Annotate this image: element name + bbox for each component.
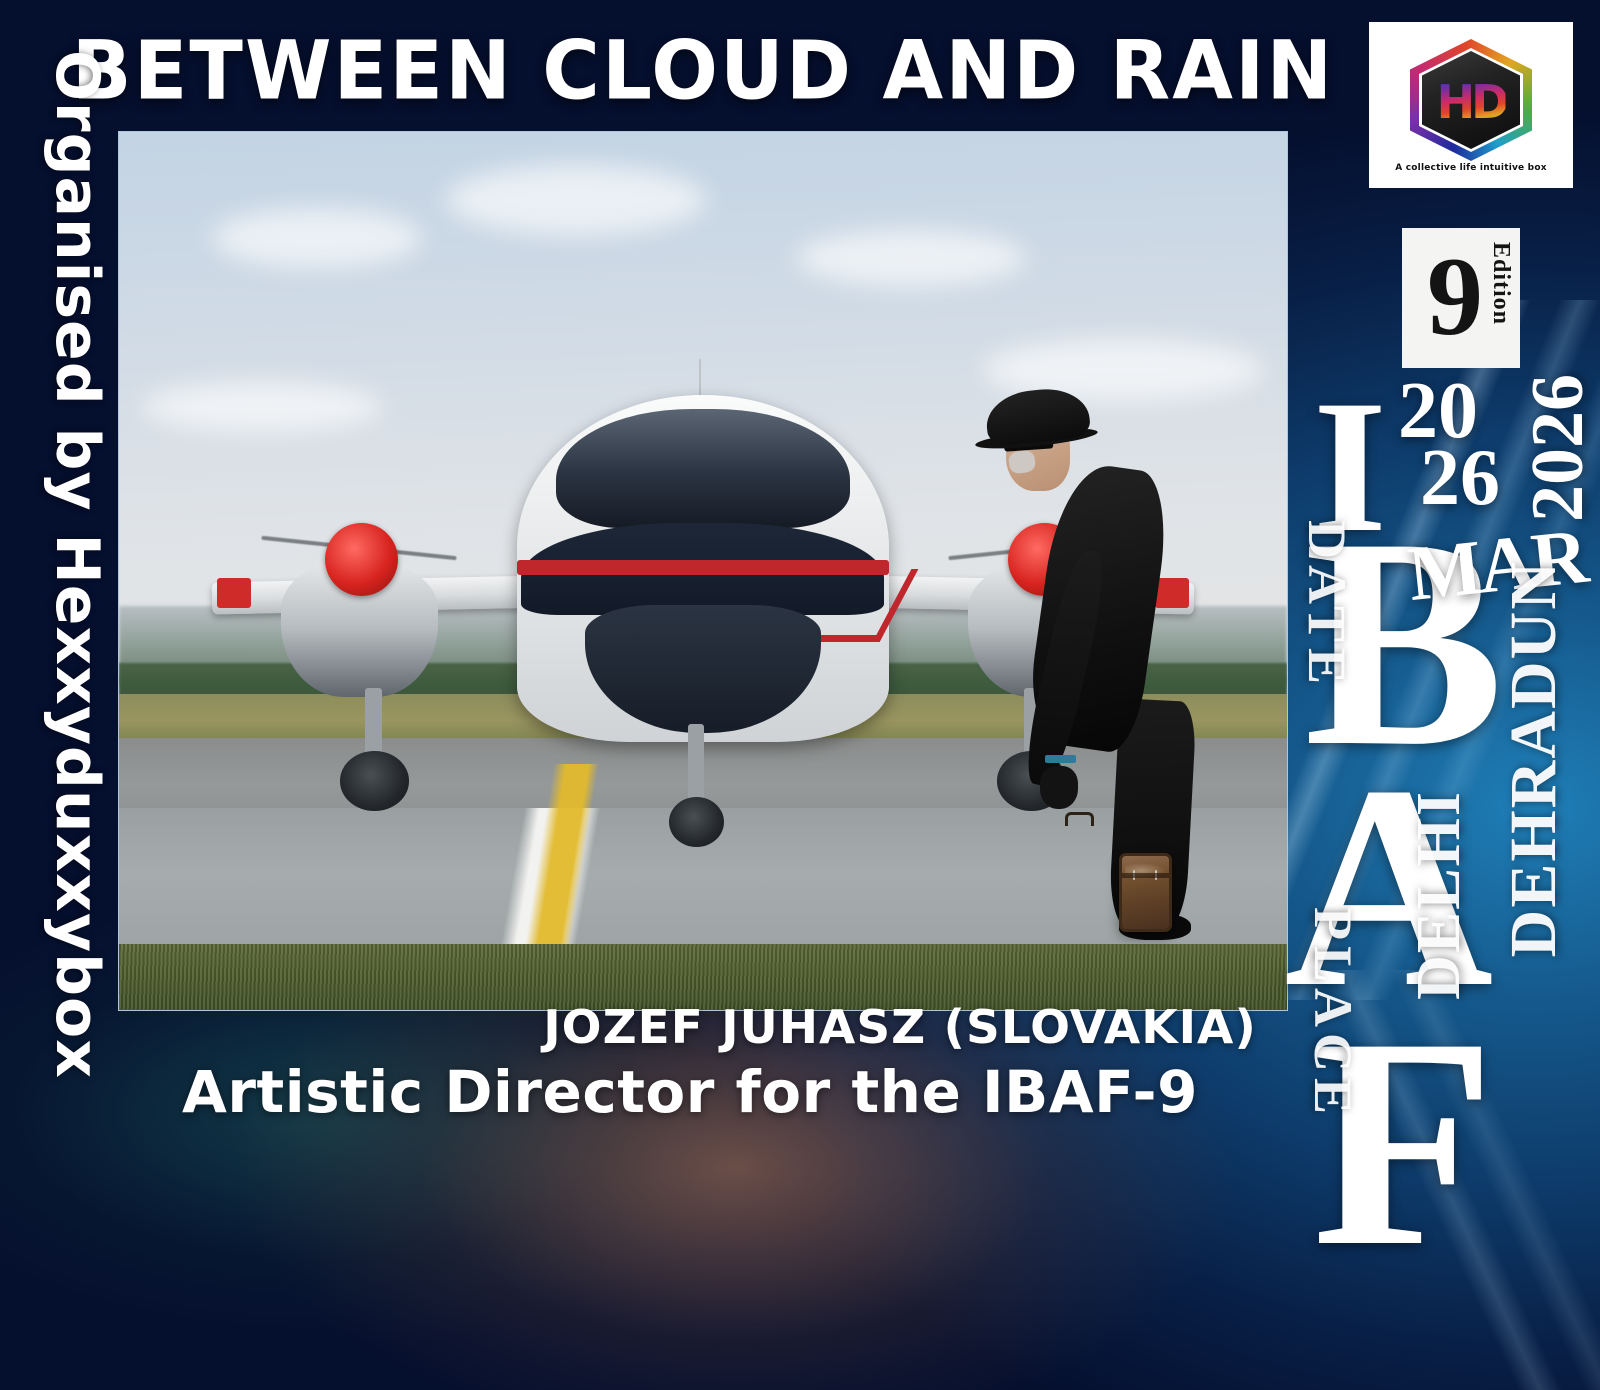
sleeve-cuff <box>1045 755 1076 764</box>
date-year-line-2: 26 <box>1420 445 1500 512</box>
date-year-stacked: 2026 <box>1398 378 1500 512</box>
suitcase-clasp <box>1155 870 1157 879</box>
cloud <box>796 230 1026 286</box>
propeller-spinner-left <box>325 523 398 596</box>
page-title: BETWEEN CLOUD AND RAIN <box>83 17 1323 125</box>
hero-photo <box>118 131 1288 1011</box>
artist-name: JOZEF JUHASZ (SLOVAKIA) <box>106 1000 1299 1054</box>
cockpit-canopy <box>556 409 850 528</box>
edition-badge: 9 Edition <box>1402 228 1520 368</box>
location-delhi: DELHI <box>1404 790 1475 1000</box>
hexxyduxxybox-logo: HD A collective life intuitive box <box>1369 22 1573 188</box>
man-with-suitcase <box>960 395 1217 939</box>
festival-dates: 2026 2026 MAR <box>1398 378 1558 568</box>
edition-label: Edition <box>1487 242 1514 325</box>
hd-monogram: HD <box>1437 75 1506 129</box>
sponsor-logo-row: KULT MINOR இ bindu space for artists MUL… <box>0 1176 1600 1376</box>
cloud <box>212 208 422 268</box>
suitcase-handle <box>1065 812 1093 826</box>
cloud <box>446 165 706 235</box>
glove <box>1040 766 1079 810</box>
artist-role: Artistic Director for the IBAF-9 <box>100 1058 1280 1126</box>
vintage-suitcase <box>1119 853 1172 932</box>
date-year-vertical: 2026 <box>1516 374 1600 522</box>
nose-wheel <box>669 797 724 847</box>
nose-gear-strut <box>688 724 704 806</box>
wingtip-left <box>217 578 250 608</box>
suitcase-clasp <box>1133 870 1135 879</box>
date-label: DATE <box>1296 520 1358 690</box>
logo-tagline: A collective life intuitive box <box>1395 163 1546 173</box>
main-wheel-left <box>340 751 409 810</box>
edition-number: 9 <box>1427 252 1483 344</box>
place-label: PLACE <box>1302 907 1364 1120</box>
poster-root: BETWEEN CLOUD AND RAIN Organised by Hexx… <box>0 0 1600 1390</box>
location-dehradun: DEHRADUN <box>1496 560 1572 957</box>
hexagon-cube-icon: HD <box>1410 39 1532 161</box>
main-gear-strut-left <box>365 688 383 761</box>
